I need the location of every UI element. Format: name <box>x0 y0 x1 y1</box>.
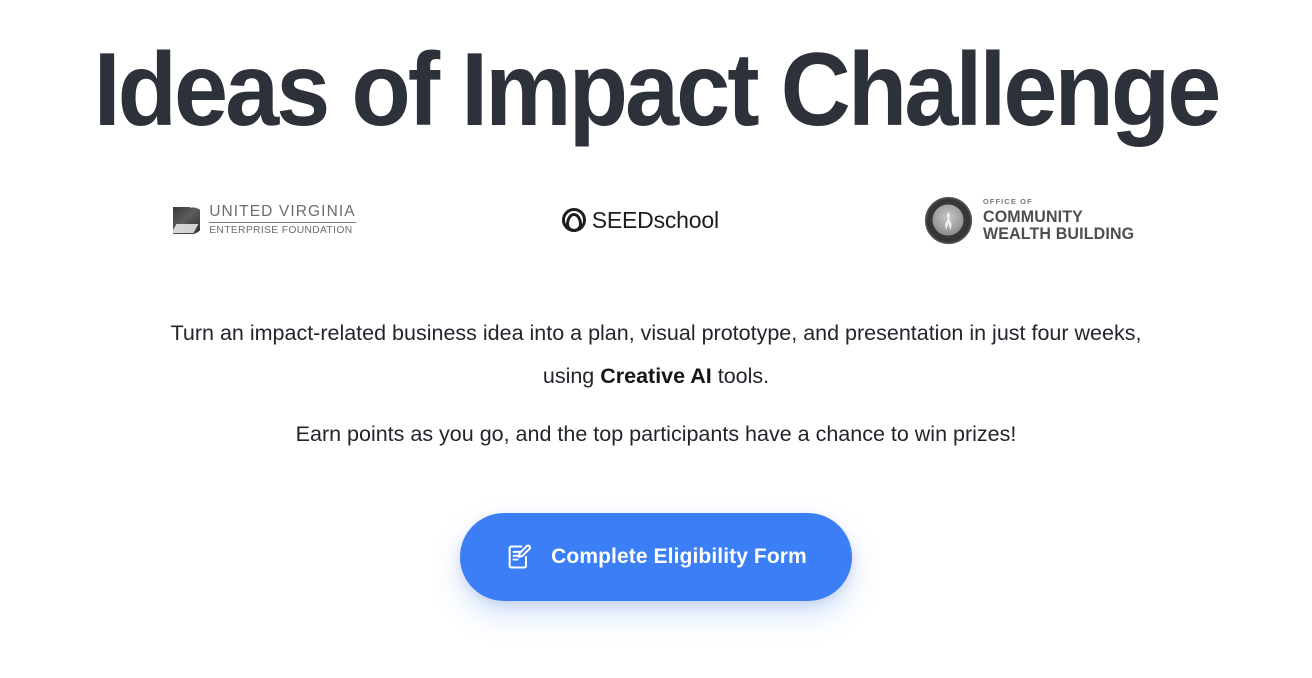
logo-wordmark: OFFICE OF COMMUNITY WEALTH BUILDING <box>983 197 1139 244</box>
logo-office-of-community-wealth-building: OFFICE OF COMMUNITY WEALTH BUILDING <box>925 191 1139 249</box>
logo-seedschool: SEEDschool <box>562 191 719 249</box>
logo-line-secondary: WEALTH BUILDING <box>983 226 1134 244</box>
logo-united-virginia-enterprise-foundation: UNITED VIRGINIA ENTERPRISE FOUNDATION <box>173 191 356 249</box>
page-title: Ideas of Impact Challenge <box>43 34 1270 146</box>
hero-description: Turn an impact-related business idea int… <box>151 312 1161 398</box>
form-edit-icon <box>505 543 533 571</box>
swoosh-square-mark-icon <box>173 207 200 234</box>
logo-line-primary: UNITED VIRGINIA <box>209 204 356 223</box>
seed-circle-mark-icon <box>562 208 586 232</box>
hero-description-part2: tools. <box>712 364 769 388</box>
logo-wordmark: UNITED VIRGINIA ENTERPRISE FOUNDATION <box>209 204 356 237</box>
complete-eligibility-form-button[interactable]: Complete Eligibility Form <box>460 513 852 601</box>
logo-word-caps: SEED <box>592 207 654 233</box>
logo-line-secondary: ENTERPRISE FOUNDATION <box>209 225 356 237</box>
landing-page: Ideas of Impact Challenge UNITED VIRGINI… <box>0 0 1312 678</box>
logo-line-primary: COMMUNITY <box>983 209 1134 227</box>
logo-word-lower: school <box>654 207 719 233</box>
logo-eyebrow: OFFICE OF <box>983 197 1139 207</box>
hero-subline: Earn points as you go, and the top parti… <box>151 419 1161 449</box>
logo-wordmark: SEEDschool <box>592 208 719 232</box>
cta-label: Complete Eligibility Form <box>551 545 807 569</box>
city-seal-icon <box>925 197 972 244</box>
hero-description-emphasis: Creative AI <box>600 364 712 388</box>
partner-logo-row: UNITED VIRGINIA ENTERPRISE FOUNDATION SE… <box>126 191 1186 249</box>
cta-container: Complete Eligibility Form <box>0 513 1312 601</box>
